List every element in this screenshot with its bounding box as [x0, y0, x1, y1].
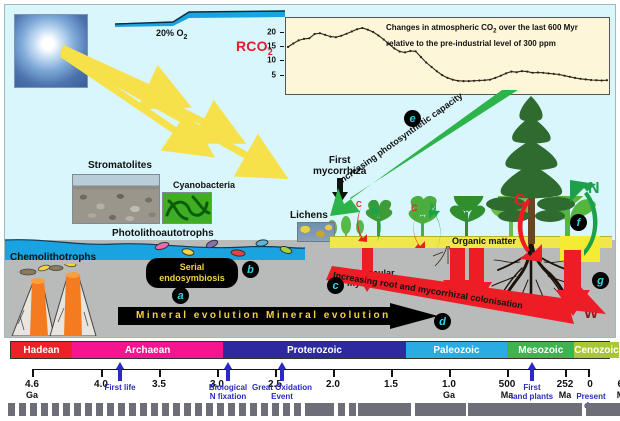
ruler-tick	[41, 403, 48, 416]
axis-tick-label: 4.6	[25, 379, 39, 390]
ruler-tick	[118, 403, 125, 416]
ruler-bar	[418, 403, 464, 416]
timeline-eon-hadean[interactable]: Hadean	[11, 342, 72, 358]
axis-tick	[391, 369, 393, 377]
timeline-eon-archaean[interactable]: Archaean	[72, 342, 223, 358]
figure-root: 20% O2 RCO2 Changes in atmospheric CO2 o…	[0, 0, 620, 421]
y-tick-mark	[280, 75, 284, 76]
sun-image	[14, 14, 88, 88]
ruler-tick	[162, 403, 169, 416]
time-axis	[32, 369, 588, 378]
timeline-eon-paleozoic[interactable]: Paleozoic	[406, 342, 508, 358]
axis-tick	[333, 369, 335, 377]
ruler-tick	[294, 403, 301, 416]
ruler-tick	[338, 403, 345, 416]
axis-tick-label: 1.0	[442, 379, 456, 390]
timeline-eon-mesozoic[interactable]: Mesozoic	[507, 342, 574, 358]
cyanobacteria-filaments	[163, 193, 211, 223]
ruler-tick	[74, 403, 81, 416]
y-tick-mark	[280, 60, 284, 61]
mineral-evolution-text: Mineral evolution Mineral evolution	[136, 310, 391, 321]
ruler-tick	[404, 403, 411, 416]
ruler-tick	[228, 403, 235, 416]
timeline-eon-cenozoic[interactable]: Cenozoic	[574, 342, 618, 358]
axis-tick-label: 3.5	[152, 379, 166, 390]
co2-inset-chart: Changes in atmospheric CO2 over the last…	[285, 17, 610, 95]
ruler-tick	[239, 403, 246, 416]
chemolithotrophs-label: Chemolithotrophs	[10, 252, 96, 263]
ruler-strip	[8, 403, 612, 416]
marker-b[interactable]: b	[242, 261, 259, 278]
co2-y-axis: 5 10 15 20	[258, 17, 284, 95]
stromatolites-image	[72, 174, 160, 224]
axis-tick	[588, 369, 590, 377]
axis-tick	[507, 369, 509, 377]
ruler-bar	[478, 403, 524, 416]
nitrogen-label-tree: N	[588, 180, 600, 198]
ruler-tick	[173, 403, 180, 416]
marker-c[interactable]: c	[327, 277, 344, 294]
ruler-tick	[217, 403, 224, 416]
axis-tick-label: 1.5	[384, 379, 398, 390]
marker-a[interactable]: a	[172, 287, 189, 304]
event-arrow	[528, 362, 536, 369]
axis-tick	[275, 369, 277, 377]
ruler-tick	[107, 403, 114, 416]
geologic-timeline: HadeanArchaeanProterozoicPaleozoicMesozo…	[10, 341, 610, 359]
ruler-bar	[358, 403, 404, 416]
axis-tick	[32, 369, 34, 377]
ruler-bar	[588, 403, 618, 416]
ruler-tick	[195, 403, 202, 416]
hydrothermal-vent-illustration	[8, 264, 100, 336]
ruler-tick	[272, 403, 279, 416]
ruler-bar	[308, 403, 334, 416]
ruler-tick	[30, 403, 37, 416]
axis-tick	[217, 369, 219, 377]
event-label: Firstland plants	[511, 383, 553, 401]
stromatolites-label: Stromatolites	[88, 160, 152, 171]
marker-d[interactable]: d	[434, 313, 451, 330]
event-label: Great OxidationEvent	[252, 383, 312, 401]
axis-tick-label: 252	[557, 379, 574, 390]
axis-tick-label: 2.0	[326, 379, 340, 390]
axis-tick-unit: Ga	[443, 390, 455, 400]
ruler-tick	[140, 403, 147, 416]
event-stem	[226, 369, 230, 381]
y-tick-mark	[280, 46, 284, 47]
event-stem	[280, 369, 284, 381]
lichens-label: Lichens	[290, 210, 328, 221]
cyanobacteria-label: Cyanobacteria	[173, 180, 235, 190]
ruler-bar	[538, 403, 582, 416]
ruler-tick	[8, 403, 15, 416]
ruler-tick	[283, 403, 290, 416]
axis-tick	[101, 369, 103, 377]
event-label: BiologicalN fixation	[209, 383, 247, 401]
axis-tick	[449, 369, 451, 377]
photosynthetic-capacity-banner	[330, 88, 520, 216]
event-arrow	[116, 362, 124, 369]
y-tick-label: 15	[267, 41, 276, 50]
marker-g[interactable]: g	[592, 272, 609, 289]
cyanobacteria-image	[162, 192, 212, 224]
plankton-cells	[150, 238, 320, 260]
ruler-tick	[85, 403, 92, 416]
ruler-tick	[52, 403, 59, 416]
ruler-tick	[151, 403, 158, 416]
serial-endosymbiosis-label: Serialendosymbiosis	[146, 258, 238, 288]
ruler-tick	[19, 403, 26, 416]
axis-tick	[565, 369, 567, 377]
ruler-tick	[206, 403, 213, 416]
y-tick-label: 10	[267, 56, 276, 65]
oxygen-label: 20% O2	[156, 28, 187, 41]
ruler-tick	[63, 403, 70, 416]
ruler-tick	[96, 403, 103, 416]
axis-tick-unit: Ga	[26, 390, 38, 400]
y-tick-label: 5	[272, 70, 276, 79]
axis-tick	[159, 369, 161, 377]
axis-tick-unit: Ma	[559, 390, 572, 400]
ruler-tick	[349, 403, 356, 416]
event-stem	[530, 369, 534, 381]
ruler-tick	[261, 403, 268, 416]
y-tick-mark	[280, 32, 284, 33]
y-tick-label: 20	[267, 27, 276, 36]
present-day-tick: 0	[587, 379, 593, 390]
ruler-tick	[184, 403, 191, 416]
event-stem	[118, 369, 122, 381]
ruler-tick	[129, 403, 136, 416]
ruler-tick	[250, 403, 257, 416]
marker-e[interactable]: e	[404, 110, 421, 127]
event-arrow	[224, 362, 232, 369]
timeline-eon-proterozoic[interactable]: Proterozoic	[223, 342, 405, 358]
event-label: First life	[104, 383, 135, 392]
event-arrow	[278, 362, 286, 369]
marker-f[interactable]: f	[570, 214, 587, 231]
co2-chart-title: Changes in atmospheric CO2 over the last…	[386, 22, 604, 49]
